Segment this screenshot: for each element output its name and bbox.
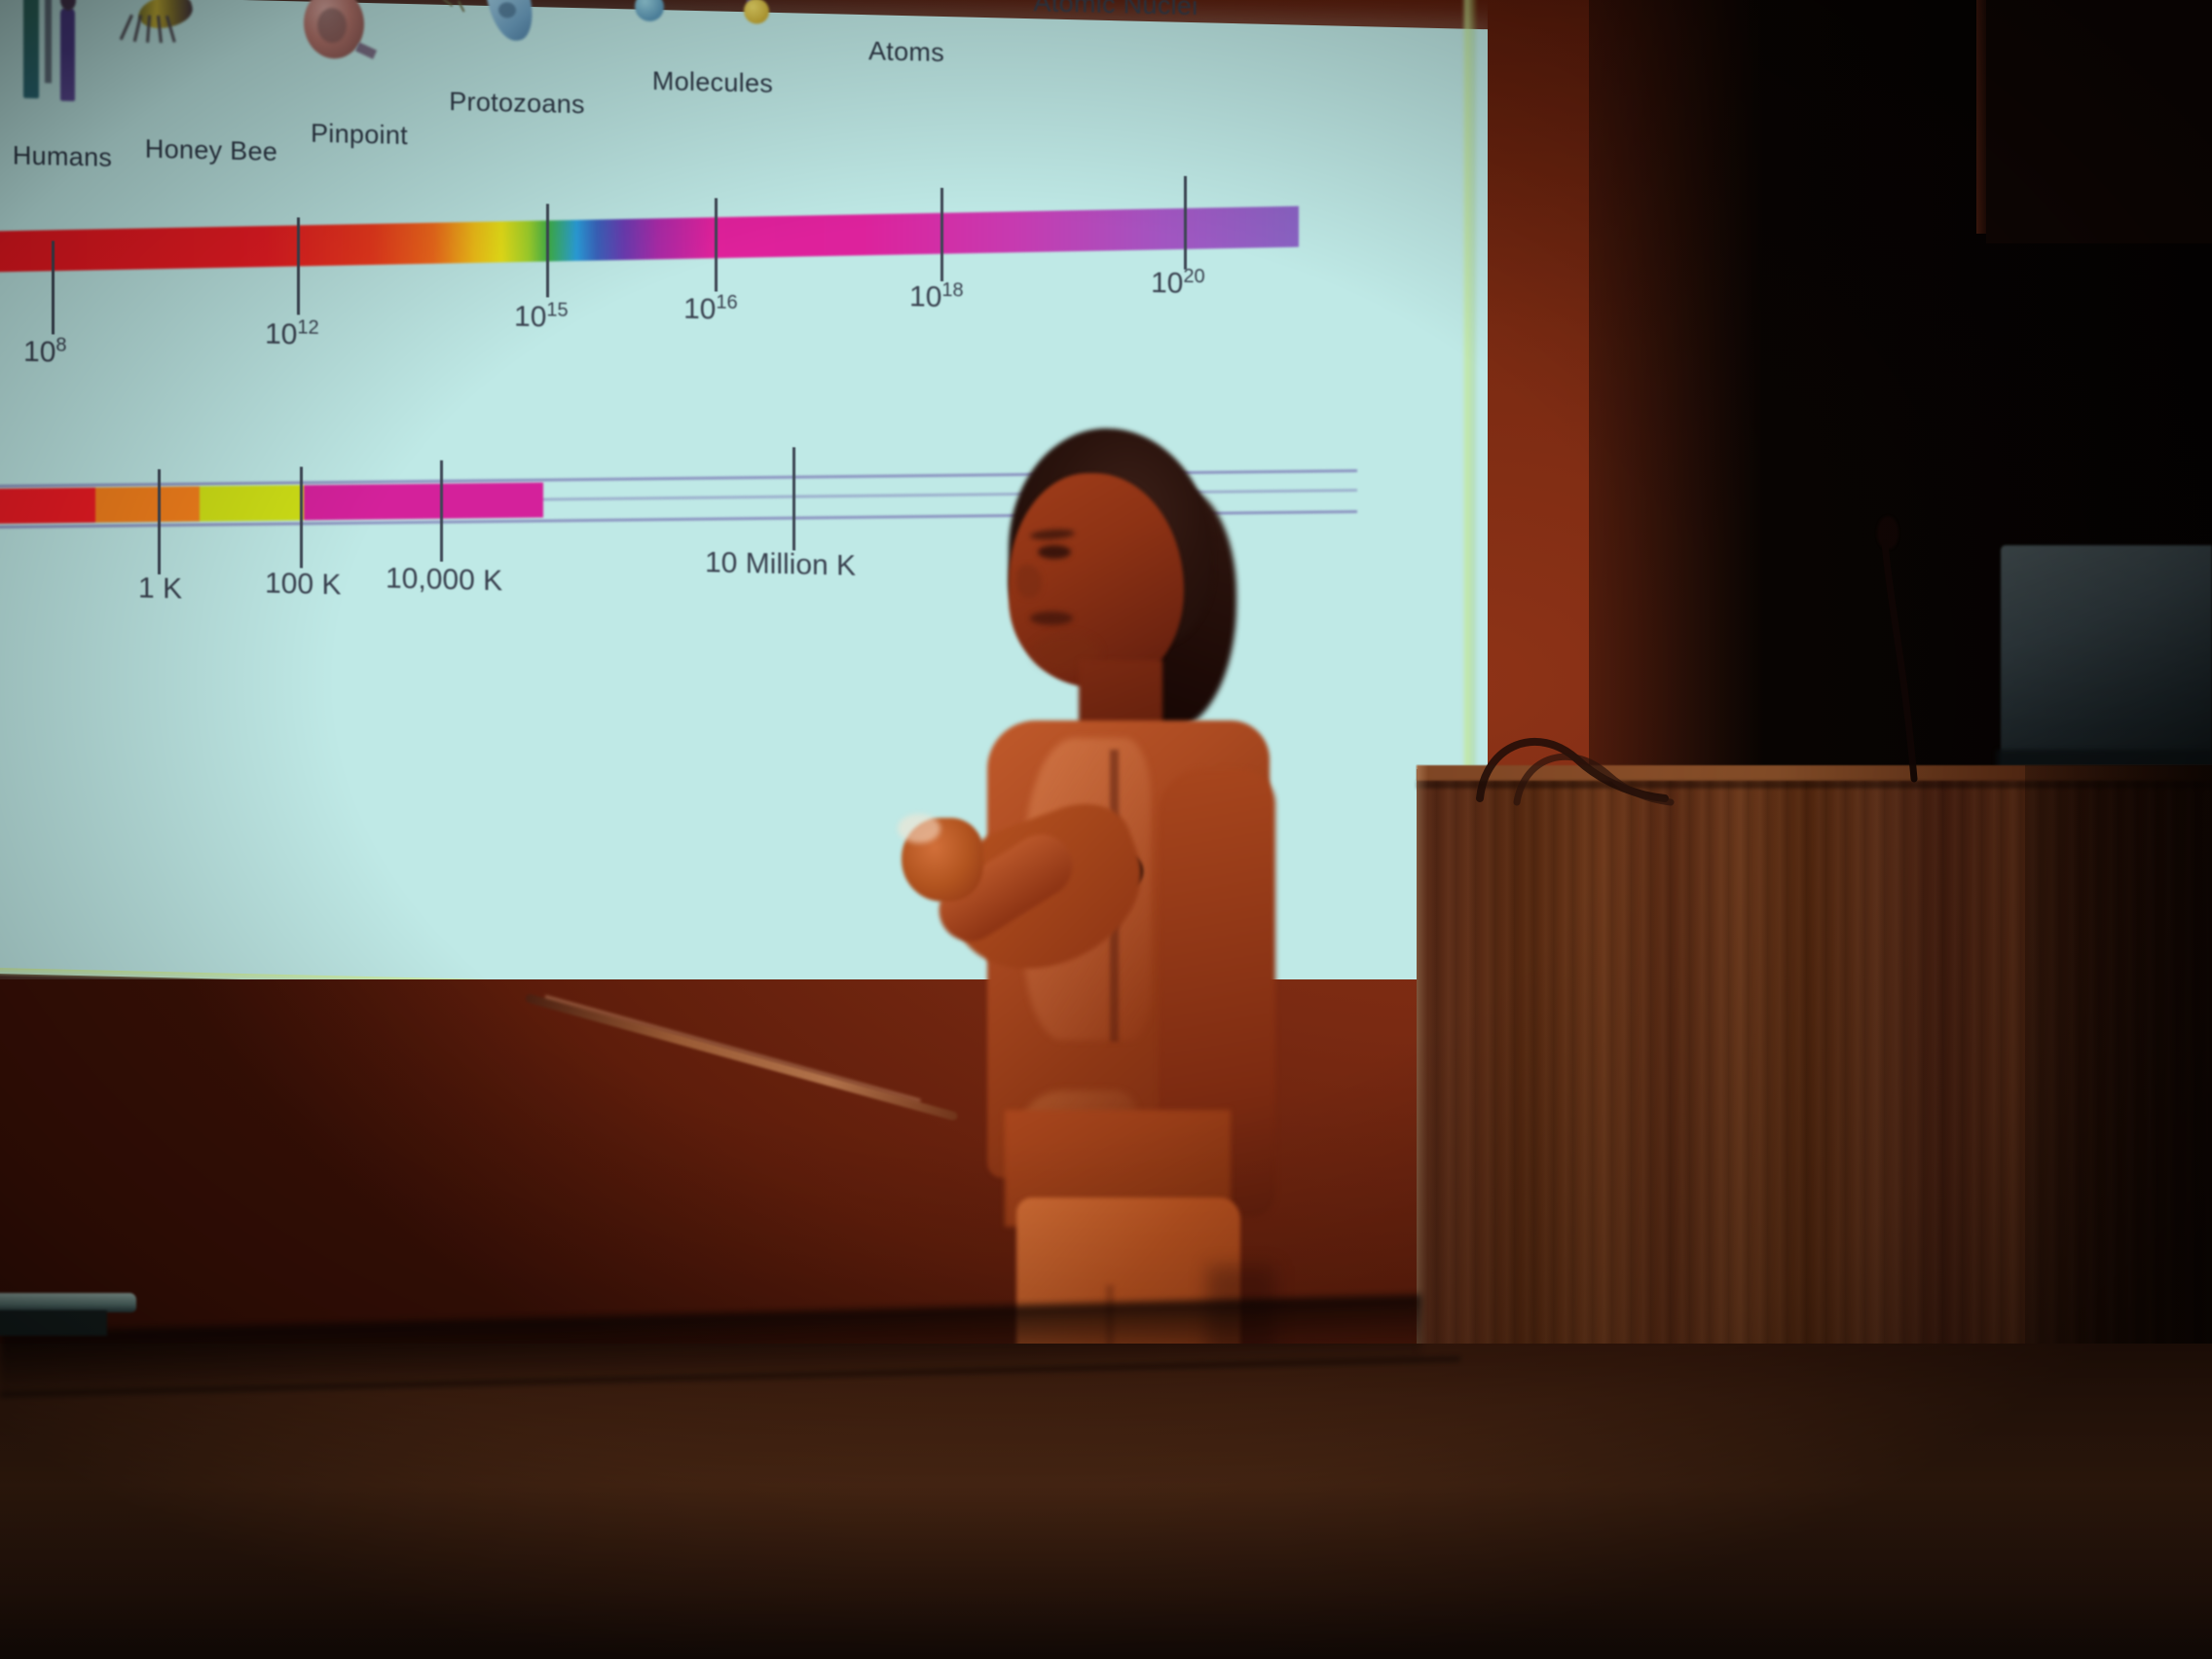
scale-label-molecules: Molecules [625,65,800,99]
presenter-eye [1038,545,1071,559]
temperature-tick-label: 100 K [265,568,341,603]
humans-icon-adult-arm [45,0,52,83]
honey-bee-icon [119,0,304,104]
protozoans-icon [424,0,609,83]
frequency-spectrum-group: 108 1012 1015 1016 1018 1020 [0,188,1338,445]
pinpoint-icon-inner [317,8,347,44]
frequency-tick-mark [546,203,549,297]
frequency-tick-label: 108 [23,334,67,370]
scale-item-atomic-nuclei: Atomic Nuclei [989,0,1242,22]
scale-item-atoms: Atoms [833,0,979,69]
scale-icon-row: Humans Honey [0,0,1357,192]
temperature-tick-mark [793,447,795,550]
side-table-edge [0,1310,107,1336]
atoms-icon-orbits [839,0,933,3]
scale-item-protozoans: Protozoans [424,0,609,121]
molecules-icon-structure [625,0,752,39]
molecules-icon [625,0,800,74]
pinpoint-icon [286,0,432,96]
presenter-hand-highlight [898,814,940,843]
side-table [0,1293,136,1312]
temperature-tick-label: 10 Million K [705,546,856,583]
frequency-tick-label: 1012 [265,316,319,352]
frequency-tick-mark [297,217,300,314]
frequency-tick-label: 1020 [1151,265,1205,301]
scale-item-molecules: Molecules [625,0,800,100]
temperature-tick-label: 1 K [138,571,182,606]
frequency-tick-label: 1016 [683,291,738,327]
presenter-nose [1016,565,1042,598]
ceiling-dark-band [1986,0,2212,243]
scale-label-pinpoint: Pinpoint [286,118,432,152]
scale-label-atoms: Atoms [833,35,979,69]
microphone-gooseneck [1821,539,1937,783]
scale-label-humans: Humans [0,140,130,173]
scale-label-protozoans: Protozoans [424,86,609,120]
frequency-tick-mark [715,198,718,291]
honey-bee-icon-legs [127,15,171,45]
temperature-tick-mark [440,461,443,562]
temperature-tick-mark [300,466,303,568]
side-monitor [2001,545,2212,769]
humans-icon [0,0,130,104]
frequency-tick-mark [940,188,943,281]
temperature-tick-mark [158,469,161,574]
pointer-stick-rod [525,993,959,1122]
wall-panel-edge [1976,0,1986,234]
frequency-tick-mark [52,240,55,334]
frequency-tick-mark [1184,176,1187,270]
scale-item-pinpoint: Pinpoint [286,0,432,152]
scale-item-humans: Humans [0,0,130,173]
gooseneck-microphone [1821,516,1957,779]
pointer-stick-highlight [545,995,921,1102]
presenter-mouth [1030,611,1073,625]
frequency-tick-label: 1015 [514,299,569,335]
humans-icon-adult-body [23,0,39,98]
scale-item-honey-bee: Honey Bee [119,0,304,167]
scale-label-honey-bee: Honey Bee [119,133,304,167]
microphone-cable [1470,701,1821,808]
temperature-tick-label: 10,000 K [386,562,502,598]
frequency-tick-group: 108 1012 1015 1016 1018 1020 [0,188,1299,444]
lecture-hall-photo: Humans Honey [0,0,2212,1659]
frequency-tick-label: 1018 [909,278,964,314]
pinpoint-icon-tip [355,42,377,59]
protozoans-icon-amoeba-nucleus [498,2,516,18]
humans-icon-child-body [60,8,75,101]
